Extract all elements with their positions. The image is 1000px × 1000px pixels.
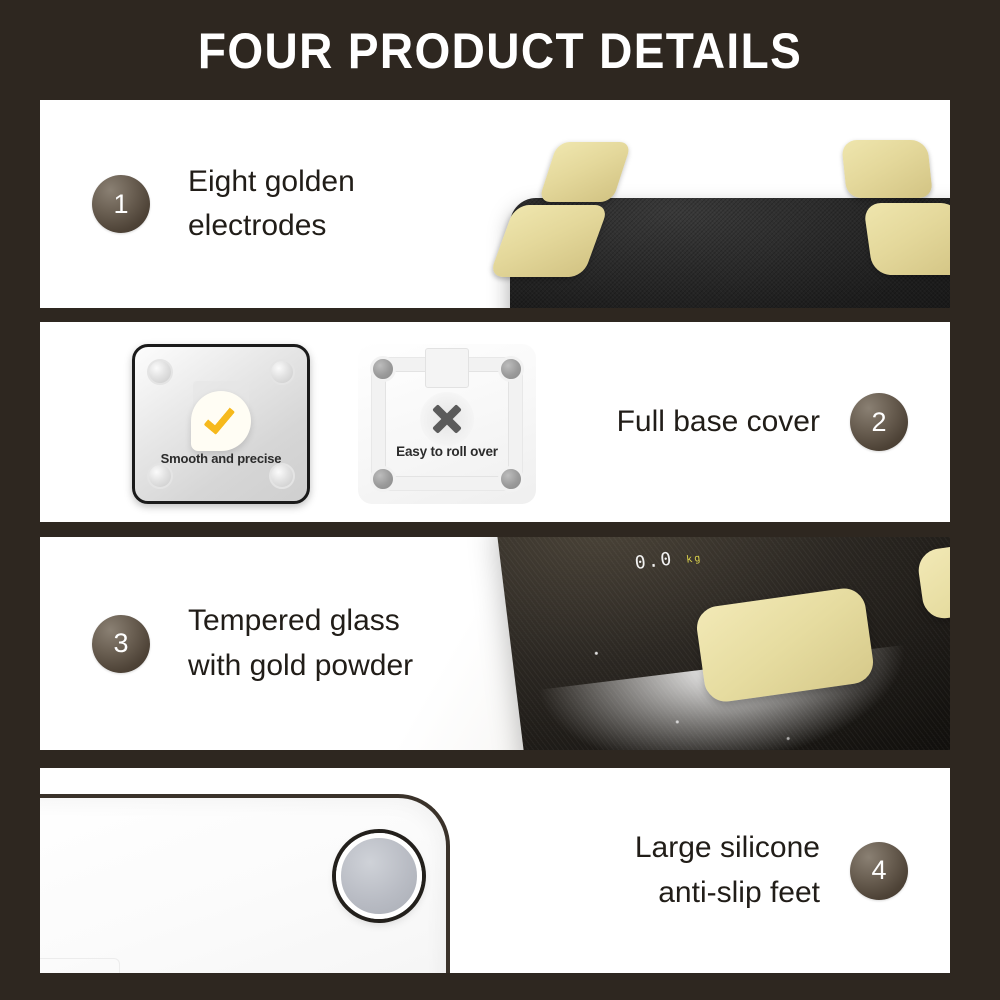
feature-card-1: 1525 ● 16 ▬ 1100 ■ 559 ● 1 Eight golden … (40, 100, 950, 308)
gold-electrode-pad (863, 203, 950, 275)
feature-1-text-block: 1 Eight golden electrodes (92, 100, 355, 308)
foot-icon (498, 466, 524, 492)
feature-number-badge-3: 3 (92, 615, 150, 673)
feature-label-2: Full base cover (617, 400, 820, 444)
scale-base-bad: Easy to roll over (358, 344, 536, 504)
page-title: FOUR PRODUCT DETAILS (40, 22, 960, 80)
feature-card-3: 0.0 kg 3 Tempered glass with gold powder (40, 537, 950, 750)
feature-number-badge-2: 2 (850, 393, 908, 451)
feature-label-1: Eight golden electrodes (188, 160, 355, 249)
foot-icon (370, 466, 396, 492)
silicone-foot (336, 833, 422, 919)
scale-base-good: Smooth and precise (132, 344, 310, 504)
feature-card-2: Smooth and precise Easy to roll over Ful… (40, 322, 950, 522)
foot-icon (269, 463, 295, 489)
feature-number-badge-1: 1 (92, 175, 150, 233)
caption-bad: Easy to roll over (358, 444, 536, 459)
battery-door (425, 348, 469, 388)
feature-card-4: Large silicone anti-slip feet 4 (40, 768, 950, 973)
feature-number-badge-4: 4 (850, 842, 908, 900)
full-base-cover-plate: Smooth and precise (132, 344, 310, 504)
foot-icon (370, 356, 396, 382)
display-unit: kg (686, 553, 703, 566)
check-mark (204, 402, 236, 435)
gold-electrode-pad (538, 142, 631, 202)
foot-icon (147, 463, 173, 489)
feature-label-4: Large silicone anti-slip feet (635, 826, 820, 915)
check-icon (191, 391, 251, 451)
feature-3-text-block: 3 Tempered glass with gold powder (92, 537, 413, 750)
partial-base-plate: Easy to roll over (358, 344, 536, 504)
feature-4-text-block: Large silicone anti-slip feet 4 (635, 768, 908, 973)
feature-label-3: Tempered glass with gold powder (188, 599, 413, 688)
gold-electrode-pad (841, 140, 933, 198)
foot-icon (269, 359, 295, 385)
display-digits: 0.0 (634, 548, 675, 574)
foot-icon (147, 359, 173, 385)
foot-icon (498, 356, 524, 382)
cross-icon (420, 392, 474, 446)
feature-2-text-block: Full base cover 2 (617, 322, 908, 522)
panel-outline (40, 958, 120, 973)
caption-good: Smooth and precise (135, 451, 307, 466)
